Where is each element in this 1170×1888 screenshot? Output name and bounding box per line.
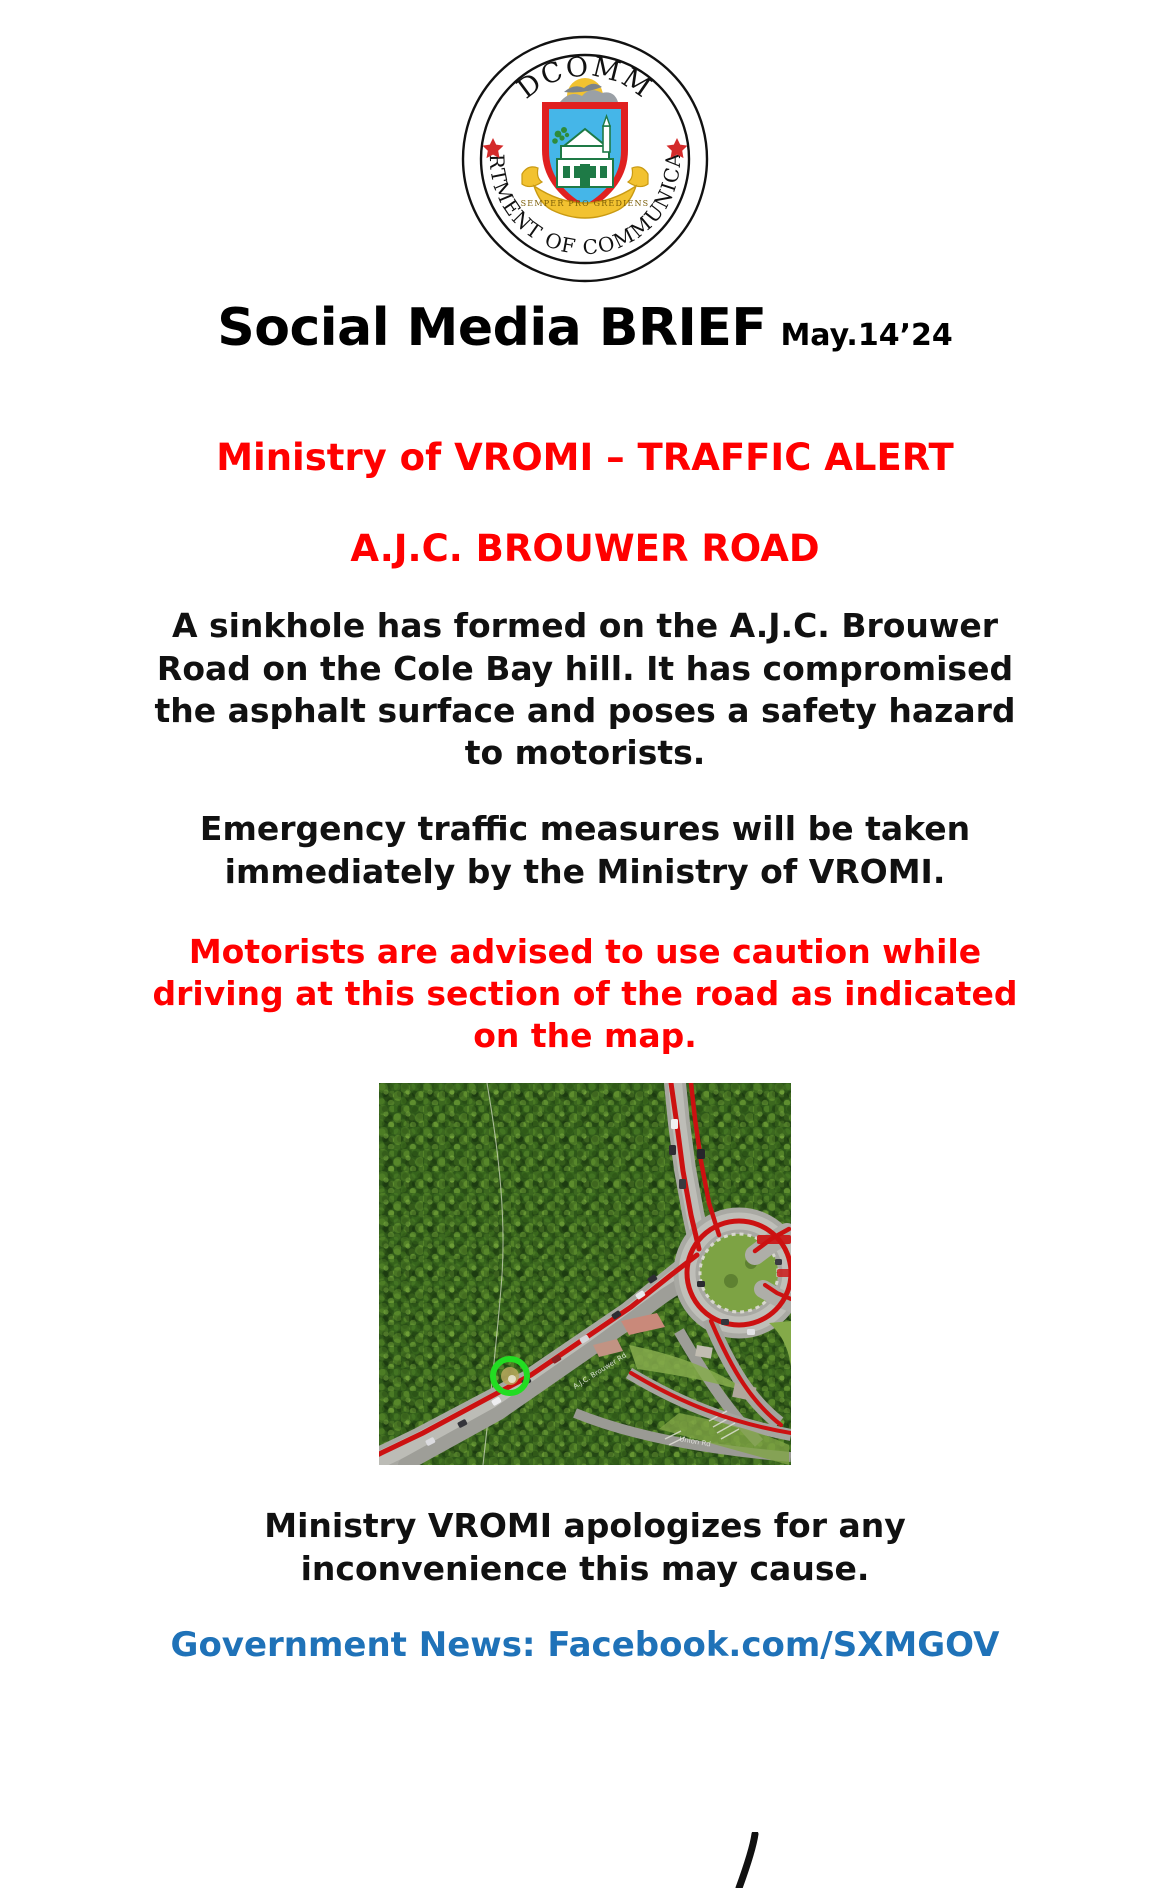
- dcomm-seal: DCOMM DEPARTMENT OF COMMUNICATION: [460, 34, 710, 284]
- body-paragraph-3-caution: Motorists are advised to use caution whi…: [135, 931, 1035, 1058]
- page-date: May.14’24: [780, 318, 952, 353]
- body-paragraph-2: Emergency traffic measures will be taken…: [130, 808, 1040, 892]
- page-title: Social Media BRIEF May.14’24: [217, 298, 952, 358]
- page-title-text: Social Media BRIEF: [217, 298, 766, 358]
- closing-paragraph: Ministry VROMI apologizes for any inconv…: [135, 1505, 1035, 1591]
- body-paragraph-1: A sinkhole has formed on the A.J.C. Brou…: [130, 605, 1040, 774]
- footer-facebook-link[interactable]: Government News: Facebook.com/SXMGOV: [171, 1625, 1000, 1665]
- aerial-traffic-map: A.J.C. Brouwer Rd Union Rd: [379, 1083, 791, 1465]
- svg-text:SEMPER PRO GREDIENS: SEMPER PRO GREDIENS: [521, 199, 650, 208]
- alert-subhead: A.J.C. BROUWER ROAD: [350, 529, 819, 570]
- bottom-slash-mark: [735, 1832, 765, 1888]
- social-media-brief-page: DCOMM DEPARTMENT OF COMMUNICATION: [0, 0, 1170, 1888]
- alert-headline: Ministry of VROMI – TRAFFIC ALERT: [216, 438, 954, 479]
